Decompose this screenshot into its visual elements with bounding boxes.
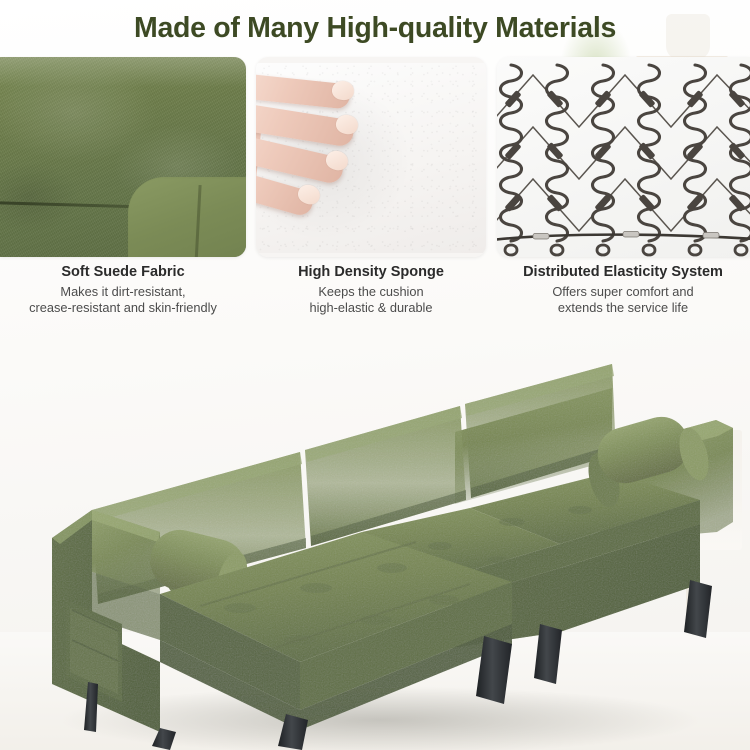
feature-image-row (0, 57, 750, 257)
page-title: Made of Many High-quality Materials (0, 12, 750, 45)
feature-caption-row: Soft Suede Fabric Makes it dirt-resistan… (0, 264, 750, 328)
feature-title: Distributed Elasticity System (496, 264, 750, 281)
feature-image-high-density-sponge (256, 57, 486, 257)
feature-caption-soft-suede-fabric: Soft Suede Fabric Makes it dirt-resistan… (0, 264, 246, 316)
feature-description-line-1: Makes it dirt-resistant, (0, 284, 246, 300)
feature-description-line-1: Keeps the cushion (250, 284, 492, 300)
feature-description-line-2: high-elastic & durable (250, 300, 492, 316)
feature-caption-high-density-sponge: High Density Sponge Keeps the cushion hi… (250, 264, 492, 316)
feature-description-line-2: extends the service life (496, 300, 750, 316)
sofa-leg-right-front (684, 580, 712, 638)
suede-highlight (0, 57, 246, 87)
feature-title: High Density Sponge (250, 264, 492, 281)
feature-description-line-2: crease-resistant and skin-friendly (0, 300, 246, 316)
feature-image-soft-suede-fabric (0, 57, 246, 257)
suede-armrest-roll (128, 177, 246, 257)
feature-title: Soft Suede Fabric (0, 264, 246, 281)
hand-press-icon (256, 71, 410, 253)
product-feature-infographic: Made of Many High-quality Materials (0, 0, 750, 750)
feature-description-line-1: Offers super comfort and (496, 284, 750, 300)
feature-caption-distributed-elasticity-system: Distributed Elasticity System Offers sup… (496, 264, 750, 316)
feature-image-distributed-elasticity-system (497, 57, 750, 257)
spring-grid-icon (497, 57, 750, 257)
product-hero-image (0, 332, 750, 750)
